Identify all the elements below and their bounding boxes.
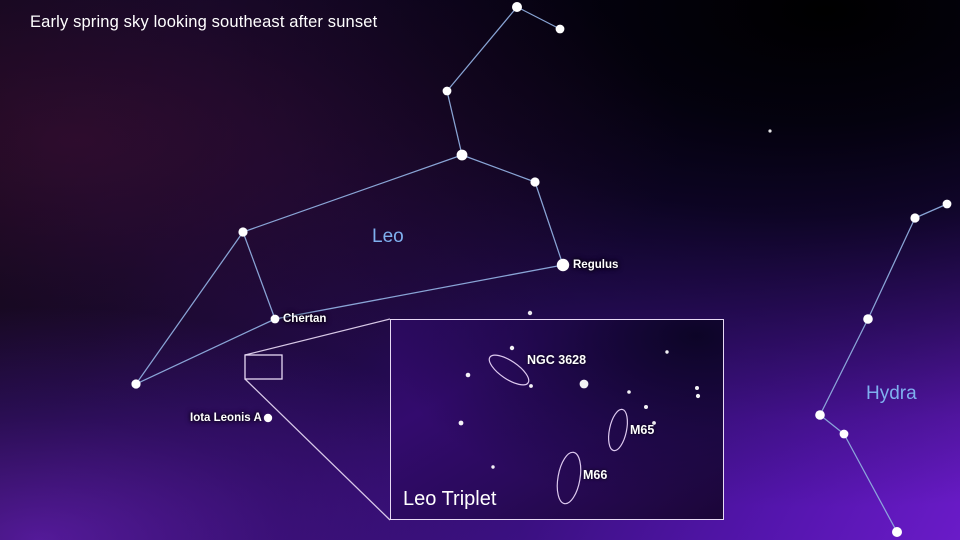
callout-marker-rect	[245, 355, 282, 379]
inset-star	[644, 405, 648, 409]
star-marker	[943, 200, 952, 209]
inset-star	[459, 421, 464, 426]
inset-star	[529, 384, 533, 388]
callout-line-bottom	[245, 379, 390, 520]
inset-star	[665, 350, 668, 353]
inset-star	[695, 386, 699, 390]
constellation-line	[243, 232, 275, 319]
page-title: Early spring sky looking southeast after…	[30, 13, 377, 32]
background-star	[528, 311, 532, 315]
constellation-line	[243, 155, 462, 232]
inset-star	[580, 380, 589, 389]
star-label: Chertan	[283, 313, 326, 325]
inset-title: Leo Triplet	[403, 488, 496, 511]
galaxy-outline-m66	[554, 450, 585, 505]
galaxy-label: M65	[630, 423, 654, 437]
star-marker	[131, 379, 140, 388]
star-marker	[840, 430, 849, 439]
inset-star	[491, 465, 494, 468]
inset-star	[627, 390, 631, 394]
star-chart-canvas: Early spring sky looking southeast after…	[0, 0, 960, 540]
inset-star	[510, 346, 514, 350]
star-marker	[557, 259, 569, 271]
galaxy-label: NGC 3628	[527, 353, 586, 367]
background-stars	[528, 129, 772, 315]
star-marker	[238, 227, 247, 236]
constellation-line	[447, 91, 462, 155]
constellation-line	[868, 218, 915, 319]
constellation-line	[915, 204, 947, 218]
star-marker	[271, 315, 280, 324]
constellation-line	[275, 265, 563, 319]
galaxy-outline-m65	[605, 408, 630, 453]
galaxy-label: M66	[583, 468, 607, 482]
constellation-line	[462, 155, 535, 182]
inset-star	[696, 394, 700, 398]
star-marker	[530, 177, 539, 186]
star-marker	[264, 414, 272, 422]
star-marker	[556, 25, 565, 34]
star-marker	[443, 87, 452, 96]
constellation-label-hydra: Hydra	[866, 383, 917, 405]
constellation-line	[535, 182, 563, 265]
galaxy-outlines	[485, 350, 631, 506]
constellation-line	[136, 319, 275, 384]
star-marker	[863, 314, 873, 324]
star-label: Regulus	[573, 259, 618, 271]
galaxy-outline-ngc-3628	[485, 350, 533, 391]
star-marker	[457, 150, 468, 161]
constellation-line	[844, 434, 897, 532]
leo-triplet-inset-panel: NGC 3628M65M66 Leo Triplet	[390, 319, 724, 520]
constellation-line	[447, 7, 517, 91]
background-star	[768, 129, 771, 132]
star-marker	[910, 213, 919, 222]
constellation-label-leo: Leo	[372, 226, 404, 248]
star-marker	[512, 2, 522, 12]
constellation-line	[517, 7, 560, 29]
star-marker	[815, 410, 825, 420]
star-label: Iota Leonis A	[190, 412, 262, 424]
inset-star	[466, 373, 471, 378]
star-marker	[892, 527, 902, 537]
constellation-line	[136, 232, 243, 384]
constellation-line	[820, 319, 868, 415]
